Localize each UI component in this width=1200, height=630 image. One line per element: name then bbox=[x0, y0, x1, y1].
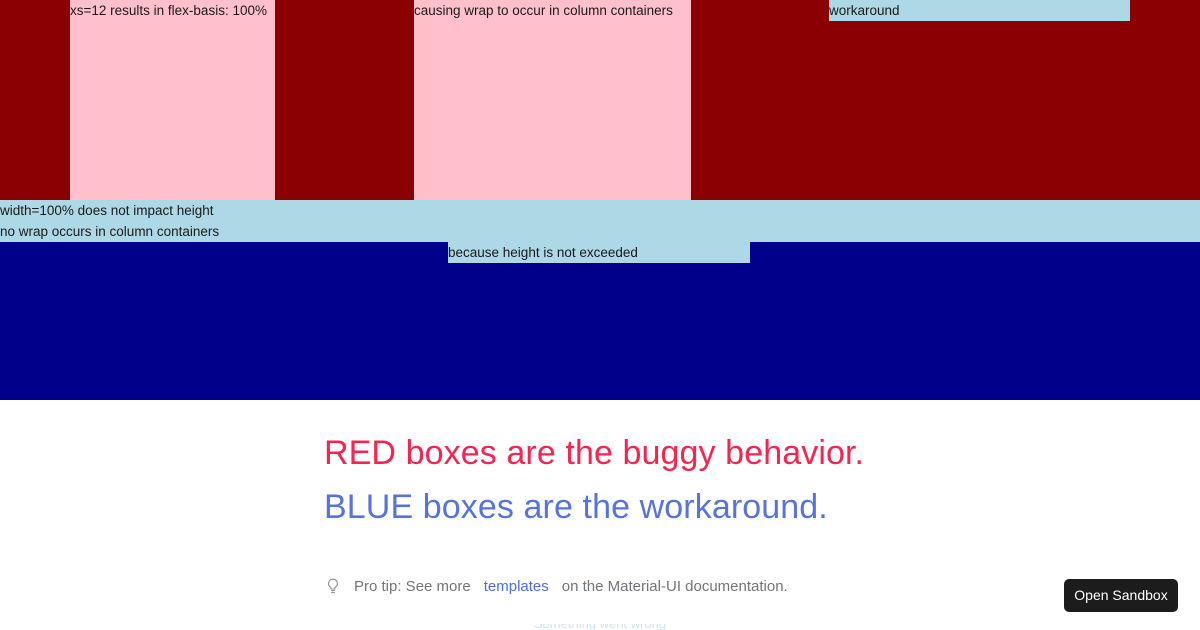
caption-blue-boxes: BLUE boxes are the workaround. bbox=[324, 486, 828, 528]
pro-tip-suffix: on the Material-UI documentation. bbox=[562, 576, 788, 598]
red-grid-container: xs=12 results in flex-basis: 100% causin… bbox=[0, 0, 1200, 200]
pro-tip-prefix: Pro tip: See more bbox=[354, 576, 471, 598]
pro-tip-row: Pro tip: See more templates on the Mater… bbox=[324, 576, 788, 598]
caption-area: RED boxes are the buggy behavior. BLUE b… bbox=[0, 400, 1200, 630]
open-sandbox-button[interactable]: Open Sandbox bbox=[1064, 579, 1178, 612]
lightbulb-icon bbox=[324, 576, 341, 598]
footer-cutoff: Something went wrong bbox=[0, 624, 1200, 630]
grid-item-height-not-exceeded: because height is not exceeded bbox=[448, 242, 750, 263]
templates-link[interactable]: templates bbox=[484, 576, 549, 598]
grid-item-xs12-flex-basis: xs=12 results in flex-basis: 100% bbox=[70, 0, 275, 200]
footer-cutoff-text: Something went wrong bbox=[0, 624, 1200, 630]
page-root: xs=12 results in flex-basis: 100% causin… bbox=[0, 0, 1200, 630]
info-line-width-no-impact: width=100% does not impact height bbox=[0, 200, 1200, 221]
grid-item-causing-wrap: causing wrap to occur in column containe… bbox=[414, 0, 691, 200]
navy-grid-container: because height is not exceeded bbox=[0, 242, 1200, 400]
grid-demo-area: xs=12 results in flex-basis: 100% causin… bbox=[0, 0, 1200, 400]
lightblue-info-band: width=100% does not impact height no wra… bbox=[0, 200, 1200, 242]
grid-item-workaround: workaround bbox=[829, 0, 1130, 21]
info-line-no-wrap: no wrap occurs in column containers bbox=[0, 221, 1200, 242]
caption-red-boxes: RED boxes are the buggy behavior. bbox=[324, 432, 864, 474]
